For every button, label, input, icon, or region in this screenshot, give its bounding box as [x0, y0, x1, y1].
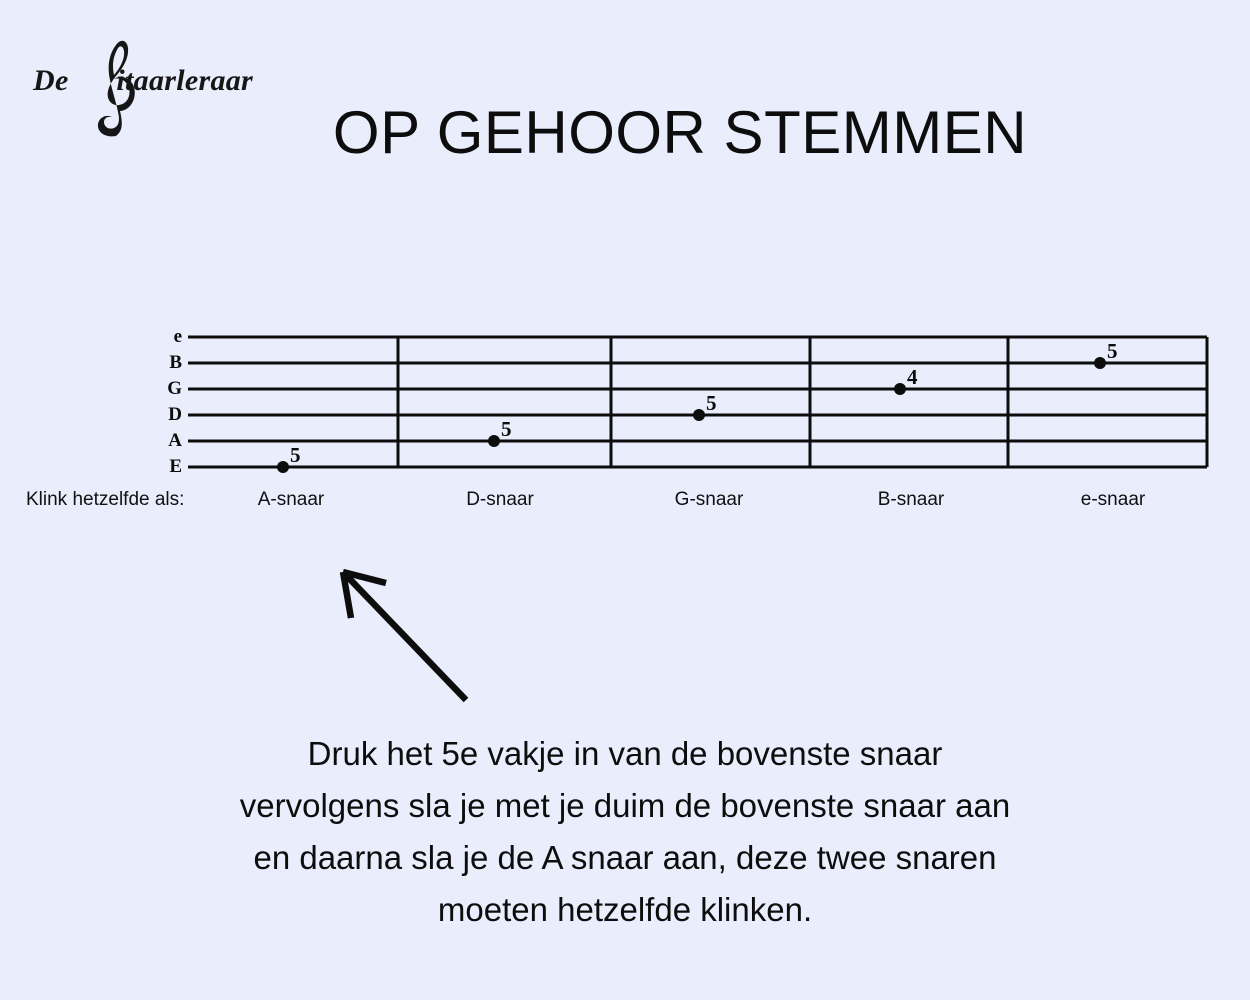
arrow-up-left-icon: [320, 550, 500, 725]
caption-row: Klink hetzelfde als: A-snaar D-snaar G-s…: [0, 489, 1250, 517]
fret-dot-4: [894, 383, 906, 395]
fret-number-5: 5: [1107, 339, 1118, 363]
fret-dot-3: [693, 409, 705, 421]
fret-number-1: 5: [290, 443, 301, 467]
page-title: OP GEHOOR STEMMEN: [0, 98, 1250, 167]
fret-dot-1: [277, 461, 289, 473]
caption-cell-g-snaar: G-snaar: [675, 489, 744, 511]
brand-logo-text-before: De: [33, 64, 76, 97]
instruction-line-3: en daarna sla je de A snaar aan, deze tw…: [0, 832, 1250, 884]
caption-cell-b-snaar: B-snaar: [878, 489, 945, 511]
caption-cell-d-snaar: D-snaar: [466, 489, 534, 511]
fret-dot-2: [488, 435, 500, 447]
caption-cell-a-snaar: A-snaar: [258, 489, 325, 511]
instruction-line-2: vervolgens sla je met je duim de bovenst…: [0, 780, 1250, 832]
tablature-staff: 5 5 5 4 5: [0, 322, 1250, 492]
instruction-text: Druk het 5e vakje in van de bovenste sna…: [0, 728, 1250, 936]
fret-number-3: 5: [706, 391, 717, 415]
instruction-line-4: moeten hetzelfde klinken.: [0, 884, 1250, 936]
tablature-diagram: e B G D A E 5 5: [0, 322, 1250, 482]
instruction-line-1: Druk het 5e vakje in van de bovenste sna…: [0, 728, 1250, 780]
arrow-shaft: [343, 572, 466, 700]
fret-number-2: 5: [501, 417, 512, 441]
caption-cell-e-snaar: e-snaar: [1081, 489, 1145, 511]
fret-dot-5: [1094, 357, 1106, 369]
caption-lead-label: Klink hetzelfde als:: [26, 489, 184, 511]
fret-number-4: 4: [907, 365, 918, 389]
